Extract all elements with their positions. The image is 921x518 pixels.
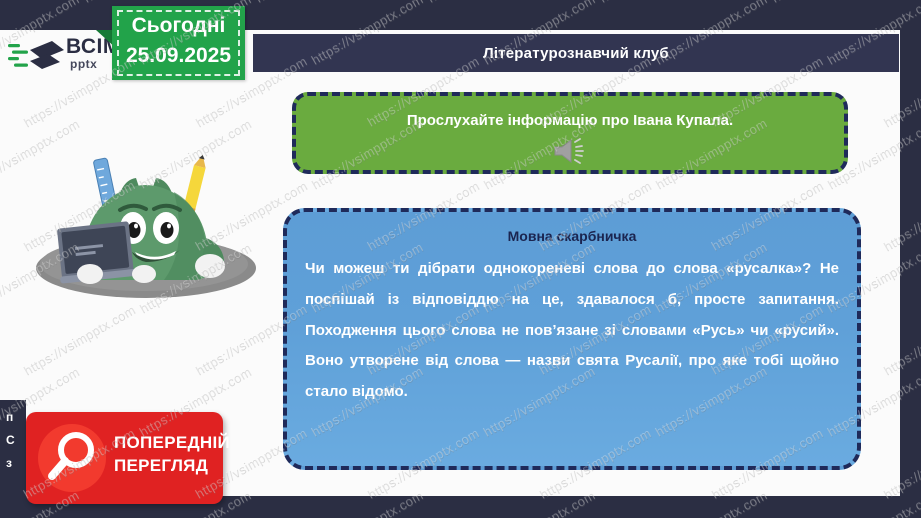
graduation-cap-icon (8, 33, 66, 79)
watermark-text: https://vsimpptx.com (253, 0, 370, 6)
page-title: Літературознавчий клуб (483, 45, 669, 62)
backpack-mascot-illustration (24, 152, 274, 300)
watermark-text: https://vsimpptx.com (425, 0, 542, 6)
preview-badge[interactable]: ПОПЕРЕДНІЙ ПЕРЕГЛЯД (26, 412, 223, 504)
watermark-text: https://vsimpptx.com (597, 0, 714, 6)
audio-instruction-box: Прослухайте інформацію про Івана Купала. (292, 92, 848, 174)
date-badge-today-label: Сьогодні (112, 14, 245, 38)
info-box-body-text: Чи можеш ти дібрати однокореневі слова д… (305, 254, 839, 408)
audio-instruction-text: Прослухайте інформацію про Івана Купала. (296, 112, 844, 129)
watermark-text: https://vsimpptx.com (0, 0, 26, 6)
preview-badge-label: ПОПЕРЕДНІЙ ПЕРЕГЛЯД (114, 432, 218, 478)
magnifier-icon (38, 424, 106, 492)
info-box-title: Мовна скарбничка (305, 228, 839, 244)
logo-subtitle: pptx (70, 57, 97, 71)
preview-label-line2: ПЕРЕГЛЯД (114, 455, 218, 478)
slide-header-bar: Літературознавчий клуб (253, 34, 899, 72)
date-badge: Сьогодні 25.09.2025 (112, 6, 245, 80)
preview-label-line1: ПОПЕРЕДНІЙ (114, 432, 218, 455)
date-badge-date-value: 25.09.2025 (112, 44, 245, 68)
obscured-text-strip: пСз (0, 400, 26, 496)
slide-frame: пСз ВСІМ pptx Сьогодні 25.09.2025 Літера… (0, 0, 921, 518)
watermark-text: https://vsimpptx.com (81, 0, 198, 6)
speaker-icon[interactable] (296, 138, 844, 169)
language-treasury-box: Мовна скарбничка Чи можеш ти дібрати одн… (283, 208, 861, 470)
watermark-text: https://vsimpptx.com (769, 0, 886, 6)
